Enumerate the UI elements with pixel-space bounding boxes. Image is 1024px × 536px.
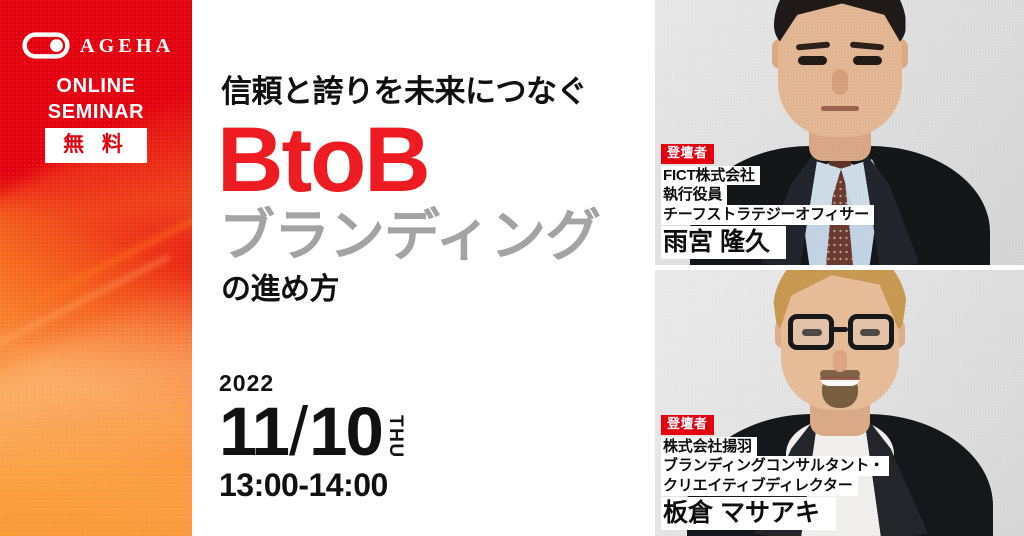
event-type-line-2: SEMINAR <box>0 100 192 126</box>
date-separator: / <box>288 399 309 465</box>
price-free-badge: 無 料 <box>45 128 147 163</box>
speaker-badge: 登壇者 <box>661 144 714 163</box>
speaker-company: 株式会社揚羽 <box>661 437 757 457</box>
speaker-title-line-1: ブランディングコンサルタント・ <box>661 456 889 476</box>
event-weekday: THU <box>386 415 405 459</box>
speaker-title-line-1: 執行役員 <box>661 185 727 205</box>
brand-logo: AGEHA <box>22 32 174 59</box>
title-kicker: 信頼と誇りを未来につなぐ <box>221 76 587 107</box>
speaker-name: 雨宮 隆久 <box>661 226 786 259</box>
speaker-photos: 登壇者 FICT株式会社 執行役員 チーフストラテジーオフィサー 雨宮 隆久 <box>655 0 1024 536</box>
speaker-caption-2: 登壇者 株式会社揚羽 ブランディングコンサルタント・ クリエイティブディレクター… <box>655 415 889 536</box>
seminar-banner: AGEHA ONLINE SEMINAR 無 料 信頼と誇りを未来につなぐ Bt… <box>0 0 1024 536</box>
event-type-label: ONLINE SEMINAR <box>0 74 192 125</box>
brand-name: AGEHA <box>80 36 174 56</box>
speaker-caption-1: 登壇者 FICT株式会社 執行役員 チーフストラテジーオフィサー 雨宮 隆久 <box>655 144 874 265</box>
speaker-card-2: 登壇者 株式会社揚羽 ブランディングコンサルタント・ クリエイティブディレクター… <box>655 270 1024 536</box>
speaker-company: FICT株式会社 <box>661 166 760 186</box>
speaker-card-1: 登壇者 FICT株式会社 執行役員 チーフストラテジーオフィサー 雨宮 隆久 <box>655 0 1024 265</box>
event-month: 11 <box>219 399 288 465</box>
event-date-block: 2022 11 / 10 THU 13:00-14:00 <box>219 372 405 501</box>
event-date-line: 11 / 10 THU <box>219 399 405 465</box>
event-type-line-1: ONLINE <box>0 74 192 100</box>
main-content: 信頼と誇りを未来につなぐ BtoB ブランディング の進め方 2022 11 /… <box>192 0 655 536</box>
speaker-title-line-2: クリエイティブディレクター <box>661 476 858 496</box>
speaker-badge: 登壇者 <box>661 415 714 434</box>
title-tail: の進め方 <box>221 275 339 305</box>
ageha-infinity-logo-icon <box>22 32 70 59</box>
event-time: 13:00-14:00 <box>219 469 405 501</box>
event-year: 2022 <box>219 372 405 395</box>
speaker-name: 板倉 マサアキ <box>661 497 836 530</box>
title-sub: ブランディング <box>219 208 600 264</box>
event-day: 10 <box>309 399 382 465</box>
title-main: BtoB <box>217 114 429 206</box>
speaker-title-line-2: チーフストラテジーオフィサー <box>661 205 874 225</box>
left-gradient-panel: AGEHA ONLINE SEMINAR 無 料 <box>0 0 192 536</box>
